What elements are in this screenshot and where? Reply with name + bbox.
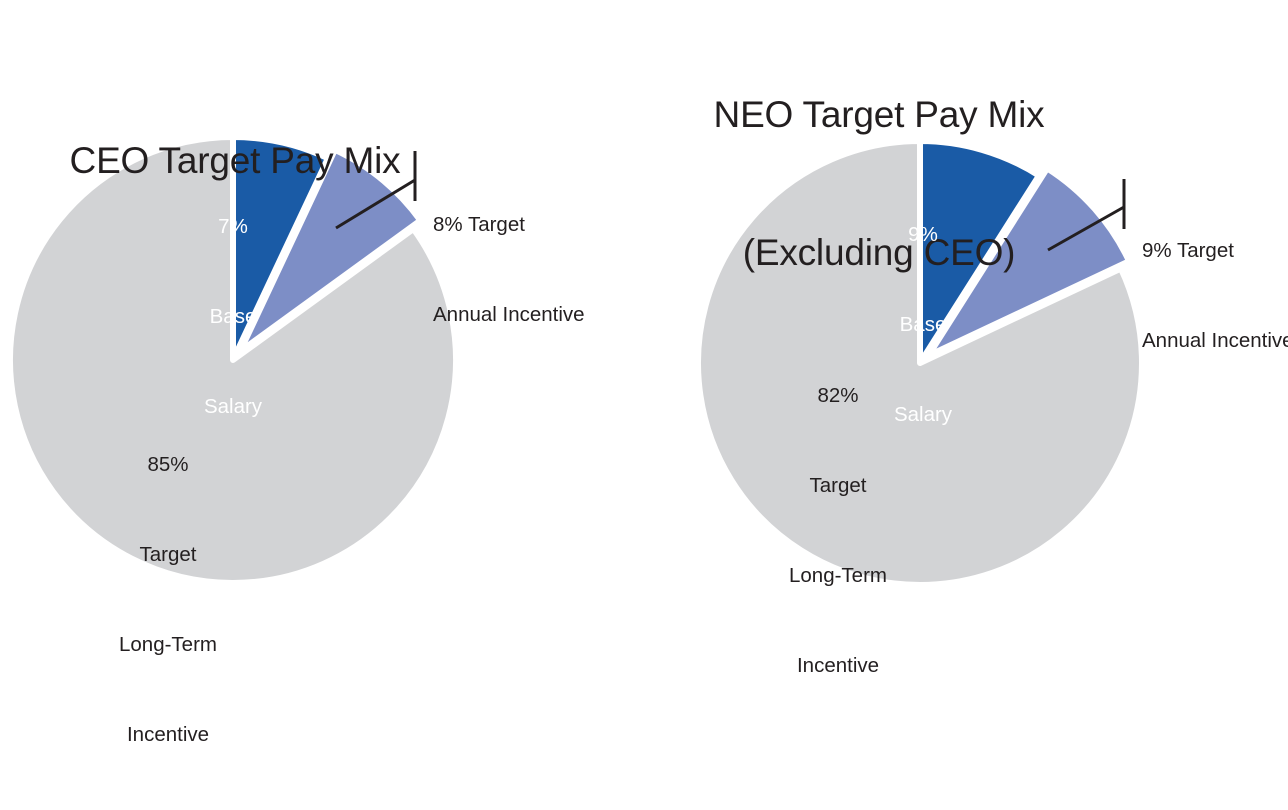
ceo-annual-incentive-callout-label: 8% Target Annual Incentive [433, 150, 633, 390]
neo-chart-title-line-1: NEO Target Pay Mix [644, 92, 1114, 138]
ceo-long-term-incentive-slice-label: 85% Target Long-Term Incentive [48, 390, 288, 810]
neo-ltip-name-line-2: Long-Term [718, 561, 958, 591]
ceo-base-salary-percent: 7% [187, 212, 279, 242]
neo-ltip-percent: 82% [718, 381, 958, 411]
ceo-base-salary-name-line-1: Base [187, 302, 279, 332]
neo-annual-incentive-line-1: 9% Target [1142, 236, 1288, 266]
ceo-annual-incentive-line-2: Annual Incentive [433, 300, 633, 330]
ceo-ltip-name-line-3: Incentive [48, 720, 288, 750]
neo-ltip-name-line-3: Incentive [718, 651, 958, 681]
neo-base-salary-percent: 9% [877, 220, 969, 250]
neo-annual-incentive-callout-label: 9% Target Annual Incentive [1142, 176, 1288, 416]
ceo-ltip-name-line-2: Long-Term [48, 630, 288, 660]
neo-long-term-incentive-slice-label: 82% Target Long-Term Incentive [718, 321, 958, 741]
ceo-annual-incentive-line-1: 8% Target [433, 210, 633, 240]
neo-annual-incentive-line-2: Annual Incentive [1142, 326, 1288, 356]
ceo-ltip-name-line-1: Target [48, 540, 288, 570]
pie-charts-figure: CEO Target Pay Mix 7% Base Salary 85% Ta… [0, 0, 1288, 596]
neo-ltip-name-line-1: Target [718, 471, 958, 501]
ceo-ltip-percent: 85% [48, 450, 288, 480]
